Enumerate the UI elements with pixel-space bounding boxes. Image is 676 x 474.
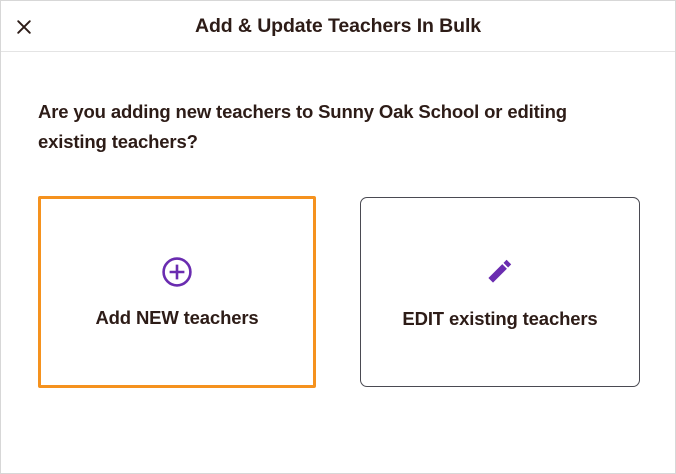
prompt-question: Are you adding new teachers to Sunny Oak… xyxy=(38,97,598,157)
page-title: Add & Update Teachers In Bulk xyxy=(1,14,675,38)
option-card-label: EDIT existing teachers xyxy=(402,304,597,333)
pencil-icon xyxy=(485,251,515,291)
plus-circle-icon xyxy=(161,252,193,292)
option-card-edit-existing-teachers[interactable]: EDIT existing teachers xyxy=(360,197,640,387)
modal-header: Add & Update Teachers In Bulk xyxy=(1,1,675,52)
option-card-add-new-teachers[interactable]: Add NEW teachers xyxy=(38,196,316,388)
bulk-teachers-modal: Add & Update Teachers In Bulk Are you ad… xyxy=(0,0,676,474)
option-card-label: Add NEW teachers xyxy=(95,303,258,332)
